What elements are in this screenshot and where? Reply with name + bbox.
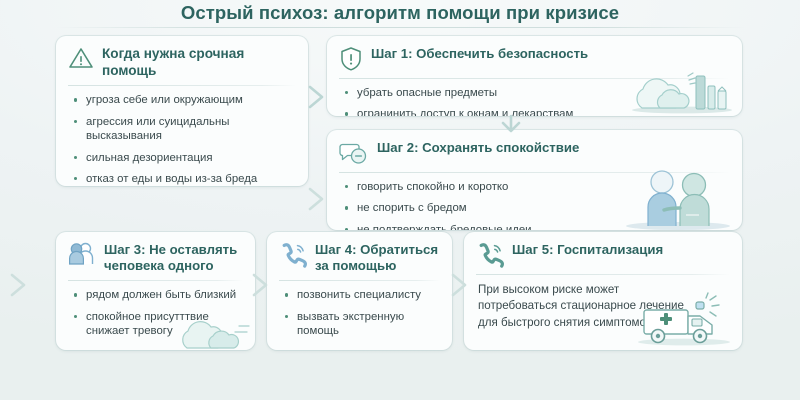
warning-list: угроза себе или окружающим агрессия или … (56, 86, 308, 186)
infographic-canvas: Острый психоз: алгоритм помощи при кризи… (0, 0, 800, 400)
list-item: убрать опасные предметы (345, 86, 730, 100)
phone-signal-icon (476, 242, 504, 268)
list-item: позвонить специалисту (285, 288, 440, 302)
card-title: Шаг 2: Сохранять спокойствие (377, 139, 579, 156)
title-divider (56, 27, 746, 28)
two-persons-icon (68, 242, 96, 266)
arrow-step1-to-step2 (498, 114, 524, 134)
arrow-step3-to-step4 (250, 272, 272, 298)
list-item: огранинить доступ к окнам и лекарствам (345, 107, 730, 116)
card-step-5-hospitalization[interactable]: Шаг 5: Госпитализация При высоком риске … (464, 232, 742, 350)
warning-triangle-icon (68, 46, 94, 70)
card-header: Шаг 4: Обратиться за помощью (267, 232, 452, 280)
card-header: Шаг 2: Сохранять спокойствие (327, 130, 742, 172)
step-5-description: При высоком риске может потребоваться ст… (464, 275, 705, 339)
phone-signal-icon (279, 242, 307, 268)
list-item: агрессия или суицидальны высказывания (74, 115, 296, 144)
card-step-3-do-not-leave-alone[interactable]: Шаг 3: Не оставлять чеповека одного рядо… (56, 232, 255, 350)
card-header: Когда нужна срочная помощь (56, 36, 308, 85)
speech-bubbles-icon (339, 140, 369, 166)
step-4-list: позвонить специалисту вызвать экстренную… (267, 281, 452, 346)
card-when-urgent-help-needed[interactable]: Когда нужна срочная помощь угроза себе и… (56, 36, 308, 186)
card-title: Шаг 3: Не оставлять чеповека одного (104, 241, 243, 274)
list-item: спокойное присутттвие снижает тревогу (74, 310, 243, 339)
card-header: Шаг 5: Госпитализация (464, 232, 742, 274)
arrow-warning-to-step3 (306, 186, 328, 212)
card-title: Когда нужна срочная помощь (102, 45, 296, 79)
page-title: Острый психоз: алгоритм помощи при кризи… (0, 2, 800, 24)
list-item: вызвать экстренную помощь (285, 310, 440, 339)
list-item: рядом должен быть близкий (74, 288, 243, 302)
list-item: сильная дезориентация (74, 151, 296, 165)
card-step-1-ensure-safety[interactable]: Шаг 1: Обеспечить безопасность убрать оп… (327, 36, 742, 116)
list-item: не спорить с бредом (345, 201, 730, 215)
card-header: Шаг 1: Обеспечить безопасность (327, 36, 742, 78)
shield-exclamation-icon (339, 46, 363, 72)
arrow-warning-to-step1 (306, 84, 328, 110)
arrow-step4-to-step5 (449, 272, 471, 298)
list-item: говорить спокойно и коротко (345, 180, 730, 194)
card-title: Шаг 4: Обратиться за помощью (315, 241, 440, 274)
step-3-list: рядом должен быть близкий спокойное прис… (56, 281, 255, 346)
arrow-step2-to-step4 (8, 272, 30, 298)
card-title: Шаг 5: Госпитализация (512, 241, 663, 258)
list-item: угроза себе или окружающим (74, 93, 296, 107)
card-step-4-seek-help[interactable]: Шаг 4: Обратиться за помощью позвонить с… (267, 232, 452, 350)
list-item: не подтверждать бредовые идеи (345, 223, 730, 230)
step-1-list: убрать опасные предметы огранинить досту… (327, 79, 742, 116)
list-item: отказ от еды и воды из-за бреда (74, 172, 296, 186)
card-title: Шаг 1: Обеспечить безопасность (371, 45, 588, 62)
card-step-2-stay-calm[interactable]: Шаг 2: Сохранять спокойствие говорить сп… (327, 130, 742, 230)
step-2-list: говорить спокойно и коротко не спорить с… (327, 173, 742, 230)
card-header: Шаг 3: Не оставлять чеповека одного (56, 232, 255, 280)
